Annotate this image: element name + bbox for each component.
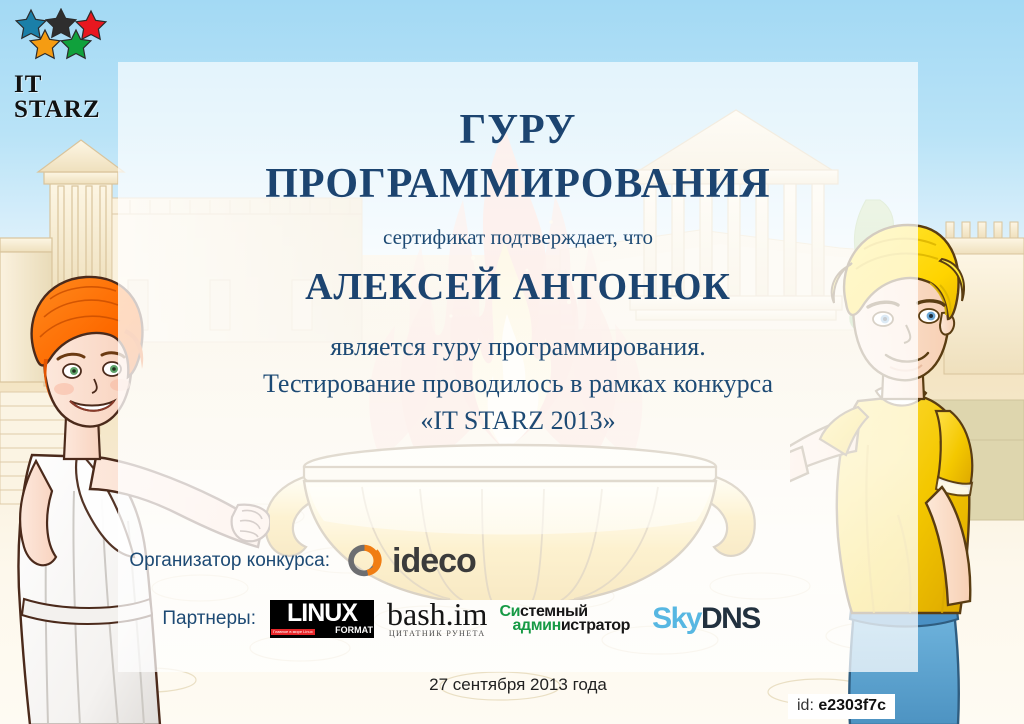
linux-format-bottom: Главное в мире Linux FORMAT	[270, 626, 374, 636]
star-black	[46, 9, 76, 37]
certificate-body-line3: «IT STARZ 2013»	[118, 406, 918, 436]
star-red	[76, 11, 106, 39]
sistemny-administrator-logo[interactable]: Системный администратор	[499, 605, 630, 633]
linux-format-tagline: Главное в мире Linux	[271, 629, 315, 635]
bash-im-logo[interactable]: bash.im ЦИТАТНИК РУНЕТА	[387, 599, 487, 639]
certificate-id-badge: id: e2303f7c	[788, 694, 895, 719]
certificate-id-label: id:	[797, 697, 814, 714]
ideco-logo[interactable]: ideco	[346, 542, 476, 579]
certificate-content: ГУРУ ПРОГРАММИРОВАНИЯ сертификат подтвер…	[118, 62, 918, 672]
certificate-title-line2: ПРОГРАММИРОВАНИЯ	[118, 160, 918, 208]
recipient-name: АЛЕКСЕЙ АНТОНЮК	[118, 265, 918, 309]
ideco-wordmark: ideco	[392, 544, 476, 578]
skydns-part1: Sky	[652, 602, 701, 635]
linux-format-secondary: FORMAT	[335, 626, 373, 635]
organizer-row: Организатор конкурса: ideco	[118, 542, 918, 579]
stars-icon	[14, 8, 110, 64]
certificate-subtitle: сертификат подтверждает, что	[118, 225, 918, 250]
sysadmin-line2: администратор	[499, 619, 630, 633]
skydns-logo[interactable]: SkyDNS	[652, 604, 760, 634]
star-blue	[16, 10, 46, 38]
logo-wordmark: IT STARZ	[14, 72, 124, 122]
it-starz-logo[interactable]: IT STARZ	[14, 8, 124, 94]
bash-im-secondary: ЦИТАТНИК РУНЕТА	[387, 629, 487, 639]
partners-row: Партнеры: LINUX Главное в мире Linux FOR…	[118, 599, 918, 639]
skydns-part2: DNS	[701, 602, 760, 635]
certificate-canvas: IT STARZ ГУРУ ПРОГРАММИРОВАНИЯ сертифика…	[0, 0, 1024, 724]
ideco-mark-icon	[346, 542, 383, 579]
certificate-body-line2: Тестирование проводилось в рамках конкур…	[118, 369, 918, 399]
sysadmin-line2-black: истратор	[561, 617, 630, 634]
linux-format-main: LINUX	[270, 600, 374, 626]
bash-im-main: bash.im	[387, 599, 487, 629]
certificate-date: 27 сентября 2013 года	[118, 675, 918, 695]
organizer-label: Организатор конкурса:	[118, 550, 346, 572]
certificate-id-value: e2303f7c	[818, 697, 886, 714]
partners-label: Партнеры:	[118, 608, 270, 630]
certificate-title-line1: ГУРУ	[118, 106, 918, 154]
linux-format-logo[interactable]: LINUX Главное в мире Linux FORMAT	[270, 600, 374, 638]
certificate-body-line1: является гуру программирования.	[118, 332, 918, 362]
sysadmin-line2-green: админ	[512, 617, 560, 634]
